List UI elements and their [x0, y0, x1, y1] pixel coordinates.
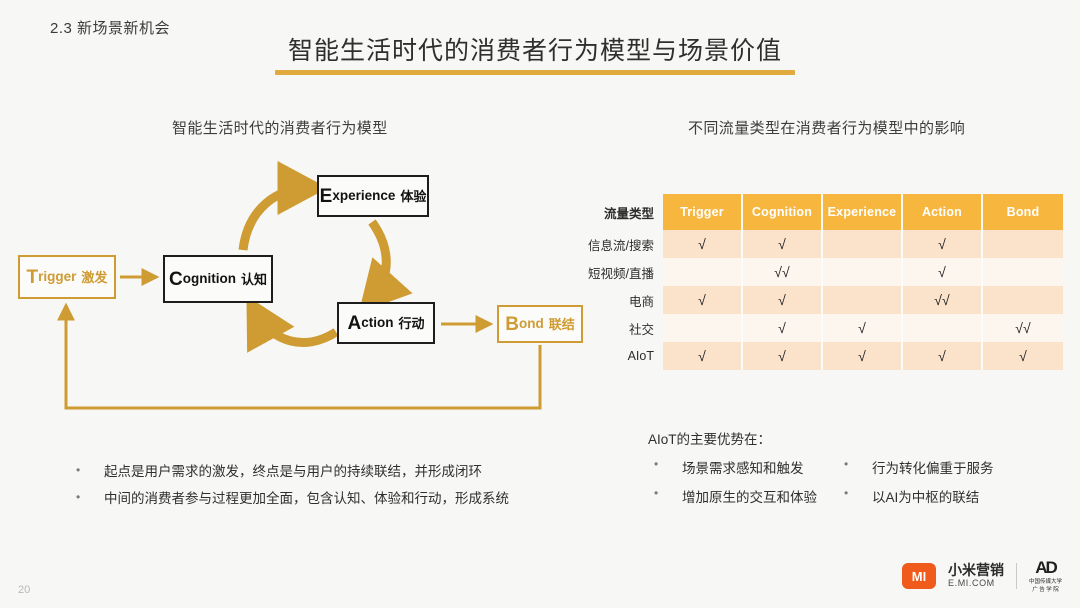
table-row: AIoT √ √ √ √ √ [588, 342, 1063, 370]
list-item: 行为转化偏重于服务 [838, 457, 1058, 477]
partner-sub-line-1: 中国传媒大学 [1029, 579, 1062, 586]
node-experience-word: xperience [332, 189, 395, 203]
traffic-type-table: 流量类型 Trigger Cognition Experience Action… [588, 194, 1063, 370]
partner-logo: AD 中国传媒大学 广 告 学 院 [1029, 558, 1062, 594]
row-label-aiot: AIoT [588, 342, 663, 370]
title-underline [275, 70, 795, 75]
right-panel-subtitle: 不同流量类型在消费者行为模型中的影响 [688, 117, 965, 138]
diagram-node-action[interactable]: A ction 行动 [337, 302, 435, 344]
table-cell: √ [823, 342, 903, 370]
aiot-heading: AIoT的主要优势在： [648, 428, 1068, 448]
table-cell: √ [663, 286, 743, 314]
node-bond-initial: B [505, 315, 519, 334]
table-corner-label: 流量类型 [588, 194, 663, 230]
table-header: 流量类型 Trigger Cognition Experience Action… [588, 194, 1063, 230]
table-cell: √ [903, 258, 983, 286]
table-cell [903, 314, 983, 342]
table-cell: √ [823, 314, 903, 342]
table-cell: √ [983, 342, 1063, 370]
xiaomi-brand-text: 小米营销 E.MI.COM [948, 563, 1004, 588]
table-body: 信息流/搜索 √ √ √ 短视频/直播 √√ √ 电商 √ [588, 230, 1063, 370]
aiot-items-grid: 场景需求感知和触发 行为转化偏重于服务 增加原生的交互和体验 以AI为中枢的联结 [648, 457, 1068, 506]
table-col-cognition: Cognition [743, 194, 823, 230]
node-bond-word: ond [519, 317, 544, 331]
table-cell [663, 314, 743, 342]
left-panel-subtitle: 智能生活时代的消费者行为模型 [172, 117, 388, 138]
table-row: 电商 √ √ √√ [588, 286, 1063, 314]
node-action-word: ction [361, 316, 393, 330]
node-experience-cn: 体验 [400, 190, 426, 203]
table-row: 短视频/直播 √√ √ [588, 258, 1063, 286]
brand-url: E.MI.COM [948, 579, 1004, 589]
partner-logo-mark: AD [1035, 558, 1056, 578]
page-title-text: 智能生活时代的消费者行为模型与场景价值 [275, 36, 795, 67]
table-cell: √ [663, 342, 743, 370]
table-col-action: Action [903, 194, 983, 230]
node-trigger-word: rigger [38, 270, 76, 284]
row-label-ecommerce: 电商 [588, 286, 663, 314]
traffic-type-table-wrapper: 流量类型 Trigger Cognition Experience Action… [588, 194, 1063, 370]
diagram-node-cognition[interactable]: C ognition 认知 [163, 255, 273, 303]
behavior-model-diagram: T rigger 激发 C ognition 认知 E xperience 体验… [0, 150, 600, 420]
table-cell: √√ [743, 258, 823, 286]
footer-logos: 小米营销 E.MI.COM AD 中国传媒大学 广 告 学 院 [902, 558, 1062, 594]
list-item: 中间的消费者参与过程更加全面，包含认知、体验和行动，形成系统 [72, 485, 612, 512]
section-label: 2.3 新场景新机会 [50, 17, 170, 38]
list-item: 以AI为中枢的联结 [838, 486, 1058, 506]
arrow-cognition-to-experience [243, 188, 308, 250]
table-cell: √ [743, 286, 823, 314]
list-item: 起点是用户需求的激发，终点是与用户的持续联结，并形成闭环 [72, 458, 612, 485]
diagram-node-bond[interactable]: B ond 联结 [497, 305, 583, 343]
table-cell: √ [743, 342, 823, 370]
table-col-experience: Experience [823, 194, 903, 230]
row-label-social: 社交 [588, 314, 663, 342]
arrow-action-to-cognition [256, 313, 336, 342]
diagram-node-experience[interactable]: E xperience 体验 [317, 175, 429, 217]
table-cell [823, 258, 903, 286]
table-cell: √√ [983, 314, 1063, 342]
arrow-experience-to-action [372, 222, 386, 298]
table-row: 社交 √ √ √√ [588, 314, 1063, 342]
node-action-initial: A [348, 314, 362, 333]
page-title: 智能生活时代的消费者行为模型与场景价值 [275, 36, 795, 75]
table-cell: √√ [903, 286, 983, 314]
brand-name-cn: 小米营销 [948, 563, 1004, 578]
table-cell [823, 286, 903, 314]
row-label-short-video: 短视频/直播 [588, 258, 663, 286]
table-cell [983, 286, 1063, 314]
left-bullet-list: 起点是用户需求的激发，终点是与用户的持续联结，并形成闭环 中间的消费者参与过程更… [72, 458, 612, 512]
slide-canvas: 2.3 新场景新机会 智能生活时代的消费者行为模型与场景价值 智能生活时代的消费… [0, 0, 1080, 608]
diagram-node-trigger[interactable]: T rigger 激发 [18, 255, 116, 299]
node-bond-cn: 联结 [549, 318, 575, 331]
footer-divider [1016, 563, 1017, 589]
node-action-cn: 行动 [398, 317, 424, 330]
row-label-information-flow: 信息流/搜索 [588, 230, 663, 258]
page-number: 20 [18, 584, 30, 596]
table-cell: √ [903, 342, 983, 370]
table-cell [663, 258, 743, 286]
node-experience-initial: E [320, 187, 333, 206]
node-cognition-initial: C [169, 270, 183, 289]
arrow-bond-to-trigger-loop [66, 305, 540, 408]
node-trigger-cn: 激发 [81, 271, 107, 284]
table-cell: √ [903, 230, 983, 258]
table-row: 信息流/搜索 √ √ √ [588, 230, 1063, 258]
table-col-trigger: Trigger [663, 194, 743, 230]
list-item: 增加原生的交互和体验 [648, 486, 838, 506]
table-cell: √ [743, 230, 823, 258]
partner-sub-line-2: 广 告 学 院 [1032, 587, 1059, 594]
xiaomi-mi-logo-icon [902, 563, 936, 589]
node-cognition-word: ognition [183, 272, 236, 286]
node-cognition-cn: 认知 [241, 273, 267, 286]
table-header-row: 流量类型 Trigger Cognition Experience Action… [588, 194, 1063, 230]
aiot-advantages-block: AIoT的主要优势在： 场景需求感知和触发 行为转化偏重于服务 增加原生的交互和… [648, 428, 1068, 506]
table-cell [983, 258, 1063, 286]
node-trigger-initial: T [27, 268, 39, 287]
list-item: 场景需求感知和触发 [648, 457, 838, 477]
table-cell: √ [743, 314, 823, 342]
table-cell [983, 230, 1063, 258]
table-col-bond: Bond [983, 194, 1063, 230]
table-cell: √ [663, 230, 743, 258]
table-cell [823, 230, 903, 258]
